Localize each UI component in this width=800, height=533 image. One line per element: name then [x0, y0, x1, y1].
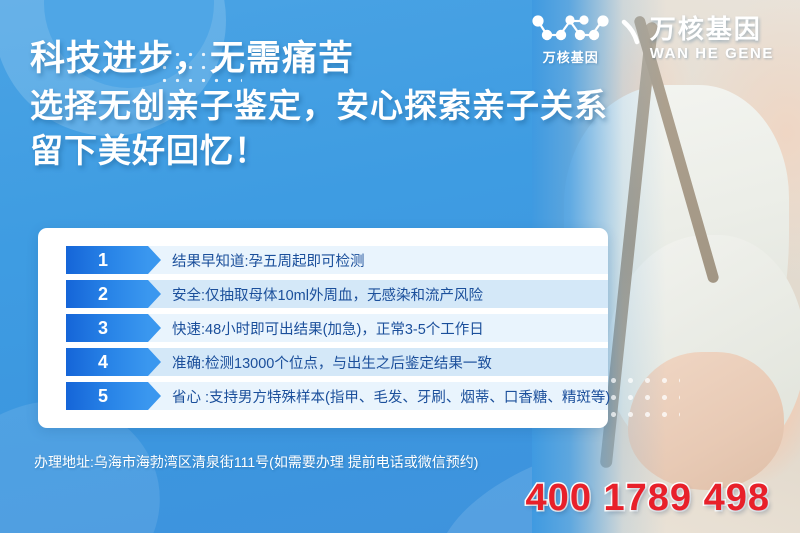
feature-number-badge: 3 [66, 314, 148, 342]
feature-text: 快速:48小时即可出结果(加急)，正常3-5个工作日 [148, 314, 608, 342]
feature-text: 省心 :支持男方特殊样本(指甲、毛发、牙刷、烟蒂、口香糖、精斑等) [148, 382, 610, 410]
feature-text: 安全:仅抽取母体10ml外周血，无感染和流产风险 [148, 280, 608, 308]
hotline-phone-number: 400 1789 498 [526, 477, 770, 520]
feature-text: 准确:检测13000个位点，与出生之后鉴定结果一致 [148, 348, 608, 376]
feature-number-badge: 4 [66, 348, 148, 376]
feature-number-badge: 5 [66, 382, 148, 410]
feature-list: 1 结果早知道:孕五周起即可检测 2 安全:仅抽取母体10ml外周血，无感染和流… [38, 246, 608, 410]
feature-row: 4 准确:检测13000个位点，与出生之后鉴定结果一致 [66, 348, 608, 376]
feature-text: 结果早知道:孕五周起即可检测 [148, 246, 608, 274]
headline-line-1: 科技进步，无需痛苦 [30, 40, 690, 78]
promotional-poster: 万核基因 万核基因 WAN HE GENE 科技进步，无需痛苦 选择无创亲子鉴定… [0, 0, 800, 533]
feature-row: 1 结果早知道:孕五周起即可检测 [66, 246, 608, 274]
feature-row: 5 省心 :支持男方特殊样本(指甲、毛发、牙刷、烟蒂、口香糖、精斑等) [66, 382, 608, 410]
feature-row: 3 快速:48小时即可出结果(加急)，正常3-5个工作日 [66, 314, 608, 342]
headline-line-3: 留下美好回忆！ [30, 133, 690, 169]
feature-row: 2 安全:仅抽取母体10ml外周血，无感染和流产风险 [66, 280, 608, 308]
feature-card: 1 结果早知道:孕五周起即可检测 2 安全:仅抽取母体10ml外周血，无感染和流… [38, 228, 608, 428]
feature-number-badge: 2 [66, 280, 148, 308]
office-address: 办理地址:乌海市海勃湾区清泉街111号(如需要办理 提前电话或微信预约) [34, 452, 478, 472]
headline-line-2: 选择无创亲子鉴定，安心探索亲子关系 [30, 88, 690, 124]
feature-number-badge: 1 [66, 246, 148, 274]
headline-block: 科技进步，无需痛苦 选择无创亲子鉴定，安心探索亲子关系 留下美好回忆！ [30, 40, 690, 169]
